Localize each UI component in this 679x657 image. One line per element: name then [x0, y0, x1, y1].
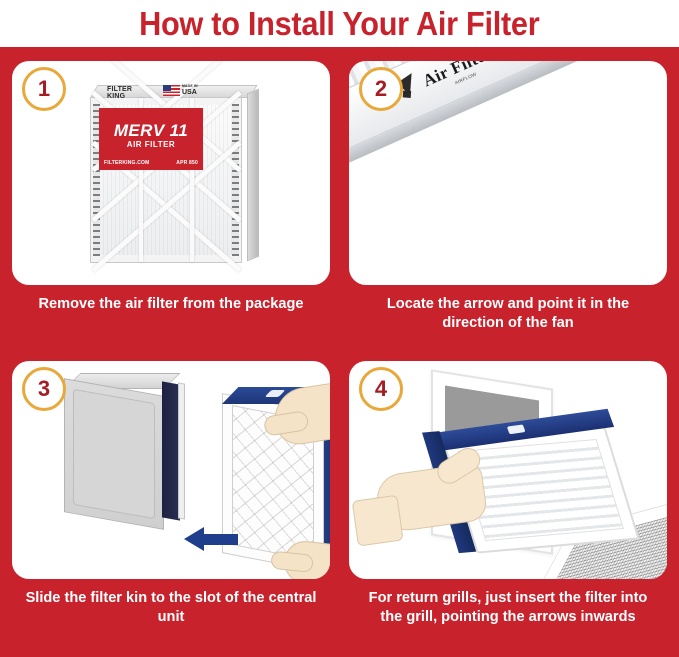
- step-2-image-card: Air Filter AIRFLOW 2: [349, 61, 667, 285]
- filter-box-side-face: [247, 89, 259, 262]
- page-title: How to Install Your Air Filter: [139, 5, 539, 43]
- step-panel-2: Air Filter AIRFLOW 2 Locate the arrow an…: [349, 61, 667, 357]
- step-1-image-card: MERV 11 AIR FILTER FILTERKING.COM APR 85…: [12, 61, 330, 285]
- step-number-badge-1: 1: [22, 67, 66, 111]
- step-caption-2: Locate the arrow and point it in the dir…: [355, 294, 660, 333]
- brand-website-text: FILTERKING.COM: [104, 160, 149, 166]
- step-caption-1: Remove the air filter from the package: [18, 294, 323, 313]
- brand-name-line1: FILTER: [107, 86, 132, 93]
- steps-grid: MERV 11 AIR FILTER FILTERKING.COM APR 85…: [0, 47, 679, 657]
- slot-front-face: [64, 378, 164, 530]
- apr-rating-text: APR 850: [176, 160, 198, 166]
- brand-name-line2: KING: [107, 93, 125, 100]
- merv-label: MERV 11 AIR FILTER FILTERKING.COM APR 85…: [99, 108, 203, 170]
- step-panel-4: 4 For return grills, just insert the fil…: [349, 361, 667, 651]
- filter-king-logo: FILTER KING: [107, 86, 132, 101]
- slot-recess: [73, 389, 155, 519]
- step-number-badge-3: 3: [22, 367, 66, 411]
- product-type-text: AIR FILTER: [99, 140, 203, 149]
- step-panel-1: MERV 11 AIR FILTER FILTERKING.COM APR 85…: [12, 61, 330, 357]
- central-unit-slot: [64, 373, 176, 523]
- step-4-image-card: 4: [349, 361, 667, 579]
- step-caption-3: Slide the filter kin to the slot of the …: [18, 588, 323, 627]
- merv-rating-text: MERV 11: [99, 121, 203, 141]
- country-text: USA: [182, 89, 197, 96]
- slot-opening-edge: [178, 382, 185, 519]
- page-header: How to Install Your Air Filter: [0, 0, 679, 47]
- filter-front-face: MERV 11 AIR FILTER FILTERKING.COM APR 85…: [90, 97, 242, 263]
- step-panel-3: 3 Slide the filter kin to the slot of th…: [12, 361, 330, 651]
- step-number-badge-2: 2: [359, 67, 403, 111]
- step-3-image-card: 3: [12, 361, 330, 579]
- step-caption-4: For return grills, just insert the filte…: [355, 588, 660, 627]
- step-number-badge-4: 4: [359, 367, 403, 411]
- airflow-arrow-tail: [403, 90, 411, 98]
- usa-flag-icon: [163, 85, 180, 96]
- made-in-usa-badge: MADE IN USA: [163, 85, 198, 96]
